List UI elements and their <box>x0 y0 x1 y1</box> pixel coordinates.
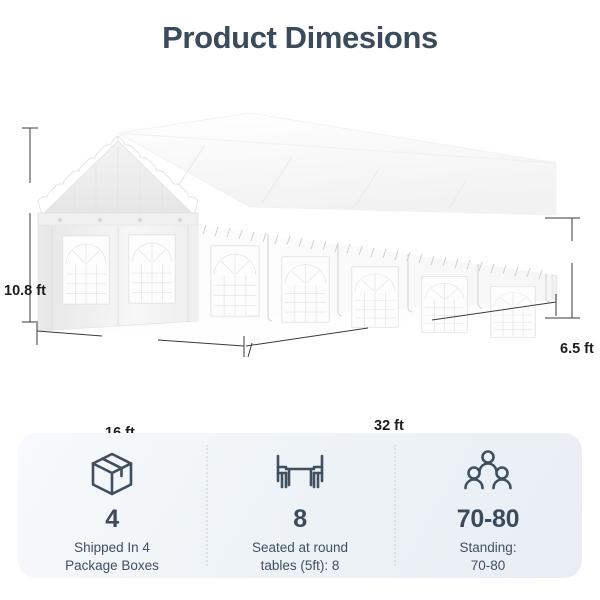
dimension-wall-height-label: 6.5 ft <box>560 341 594 357</box>
gable-window-1 <box>63 236 109 304</box>
dimension-height-label: 10.8 ft <box>4 283 46 299</box>
people-group-icon <box>461 446 515 502</box>
info-desc-standing-line1: Standing: <box>459 539 516 557</box>
page-title: Product Dimesions <box>0 20 600 56</box>
party-tent-illustration <box>0 95 600 385</box>
info-desc-standing: Standing: 70-80 <box>459 539 516 575</box>
info-desc-seating: Seated at round tables (5ft): 8 <box>252 539 348 575</box>
corner-post-left <box>38 226 45 331</box>
info-column-standing: 70-80 Standing: 70-80 <box>394 433 582 578</box>
info-desc-seating-line1: Seated at round <box>252 539 348 557</box>
info-value-seating: 8 <box>293 506 307 534</box>
info-desc-packages-line2: Package Boxes <box>65 557 159 575</box>
info-desc-packages: Shipped In 4 Package Boxes <box>65 539 159 575</box>
info-value-standing: 70-80 <box>457 506 519 534</box>
dimension-length-label: 32 ft <box>374 418 404 434</box>
info-desc-packages-line1: Shipped In 4 <box>65 539 159 557</box>
table-chairs-icon <box>271 446 329 502</box>
info-column-packages: 4 Shipped In 4 Package Boxes <box>18 433 206 578</box>
gable-window-2 <box>129 235 175 303</box>
info-value-packages: 4 <box>105 506 119 534</box>
info-column-seating: 8 Seated at round tables (5ft): 8 <box>206 433 394 578</box>
package-box-icon <box>87 446 137 502</box>
info-desc-seating-line2: tables (5ft): 8 <box>252 557 348 575</box>
product-illustration: 10.8 ft 16 ft 32 ft 6.5 ft <box>0 95 600 385</box>
info-desc-standing-line2: 70-80 <box>459 557 516 575</box>
corner-post-right <box>192 225 199 322</box>
specs-info-panel: 4 Shipped In 4 Package Boxes <box>18 433 582 578</box>
